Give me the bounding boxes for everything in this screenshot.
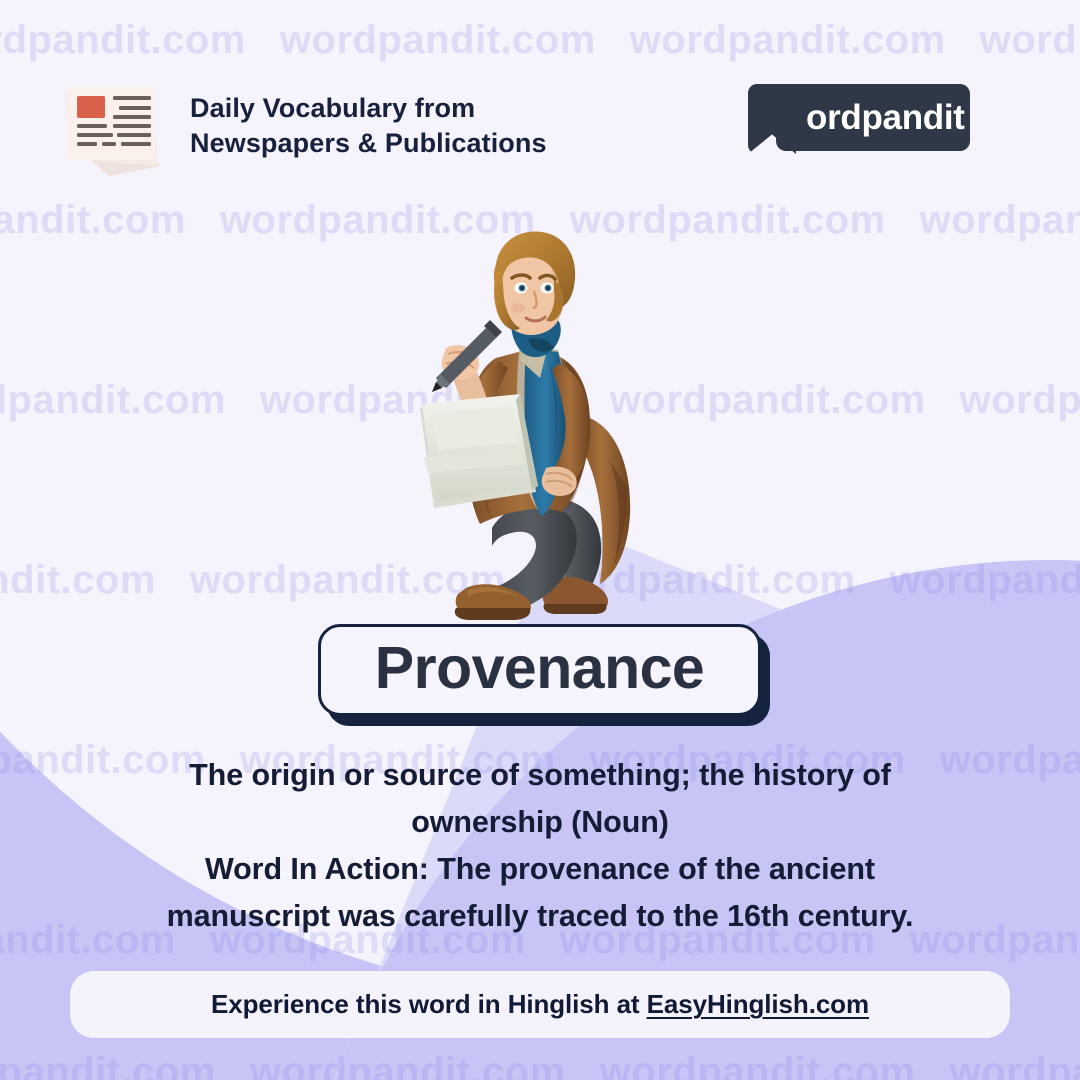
bookmark-icon <box>748 84 796 154</box>
word-card: Provenance <box>318 624 770 726</box>
notepad-icon <box>420 394 538 508</box>
word-card-body: Provenance <box>318 624 761 716</box>
definition-line-2: ownership (Noun) <box>60 799 1020 846</box>
definition-line-3: Word In Action: The provenance of the an… <box>60 846 1020 893</box>
vocabulary-card-canvas: wordpandit.comwordpandit.comwordpandit.c… <box>0 0 1080 1080</box>
footer-prefix: Experience this word in Hinglish at <box>211 989 647 1019</box>
definition-line-1: The origin or source of something; the h… <box>60 752 1020 799</box>
vocabulary-word: Provenance <box>375 639 705 702</box>
wordpandit-logo[interactable]: ordpandit <box>748 84 970 154</box>
footer-text: Experience this word in Hinglish at Easy… <box>211 989 869 1020</box>
easyhinglish-link[interactable]: EasyHinglish.com <box>647 989 869 1019</box>
victorian-scholar-illustration <box>408 228 680 640</box>
logo-text: ordpandit <box>806 100 965 135</box>
header-title: Daily Vocabulary from Newspapers & Publi… <box>190 91 547 160</box>
footer-bar: Experience this word in Hinglish at Easy… <box>70 971 1010 1038</box>
definition-block: The origin or source of something; the h… <box>60 752 1020 940</box>
header-title-line1: Daily Vocabulary from <box>190 93 475 123</box>
header: Daily Vocabulary from Newspapers & Publi… <box>0 0 1080 190</box>
header-title-line2: Newspapers & Publications <box>190 126 547 161</box>
definition-line-4: manuscript was carefully traced to the 1… <box>60 893 1020 940</box>
newspaper-icon <box>57 70 173 178</box>
